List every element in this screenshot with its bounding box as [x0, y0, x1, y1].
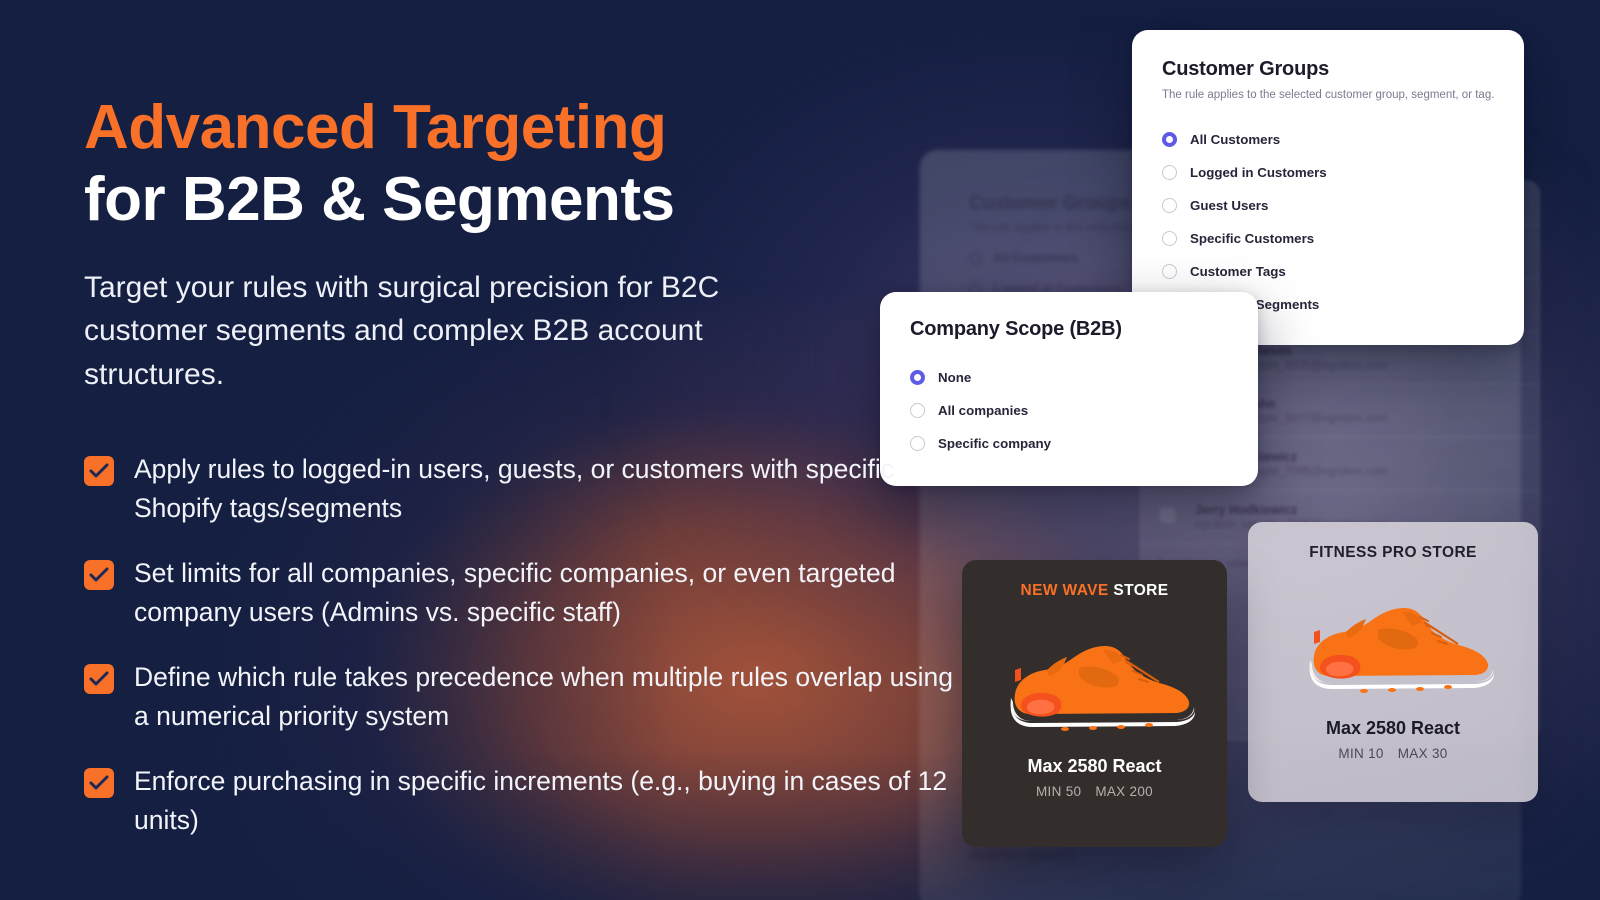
radio-selected-icon[interactable] — [1162, 132, 1177, 147]
radio-option-all-customers[interactable]: All Customers — [1162, 123, 1498, 156]
radio-option-customer-tags[interactable]: Customer Tags — [1162, 255, 1498, 288]
list-item: Enforce purchasing in specific increment… — [84, 762, 964, 840]
radio-icon[interactable] — [1162, 231, 1177, 246]
radio-option-logged-in-customers[interactable]: Logged in Customers — [1162, 156, 1498, 189]
store-name: NEW WAVE STORE — [980, 582, 1209, 600]
card-description: The rule applies to the selected custome… — [1162, 89, 1498, 101]
product-card-new-wave[interactable]: NEW WAVE STORE Max 2580 Re — [962, 560, 1227, 847]
checkbox-checked-icon — [84, 664, 114, 694]
max-quantity: MAX 200 — [1095, 784, 1153, 799]
radio-icon[interactable] — [1162, 198, 1177, 213]
list-item: Set limits for all companies, specific c… — [84, 554, 964, 632]
hero-subtitle: Target your rules with surgical precisio… — [84, 266, 824, 397]
option-label: All Customers — [1190, 132, 1280, 147]
feature-text: Define which rule takes precedence when … — [134, 658, 964, 736]
hero-copy: Advanced Targeting for B2B & Segments Ta… — [84, 92, 964, 840]
store-name: FITNESS PRO STORE — [1266, 544, 1520, 562]
card-title: Customer Groups — [1162, 58, 1498, 81]
min-quantity: MIN 50 — [1036, 784, 1081, 799]
option-label: Specific Customers — [1190, 231, 1314, 246]
ghost-option-label: Minimum Quantity — [969, 848, 1078, 862]
store-brand: NEW WAVE — [1020, 582, 1108, 599]
product-name: Max 2580 React — [1266, 718, 1520, 739]
feature-text: Set limits for all companies, specific c… — [134, 554, 964, 632]
feature-list: Apply rules to logged-in users, guests, … — [84, 450, 964, 840]
radio-icon[interactable] — [1162, 165, 1177, 180]
checkbox-icon[interactable] — [1159, 507, 1176, 524]
checkbox-checked-icon — [84, 768, 114, 798]
radio-option-guest-users[interactable]: Guest Users — [1162, 189, 1498, 222]
product-image — [980, 606, 1209, 756]
checkbox-checked-icon — [84, 456, 114, 486]
list-item: Apply rules to logged-in users, guests, … — [84, 450, 964, 528]
store-word: STORE — [1113, 582, 1168, 599]
product-card-fitness-pro[interactable]: FITNESS PRO STORE Max 2580 React — [1248, 522, 1538, 802]
page-title: Advanced Targeting for B2B & Segments — [84, 92, 964, 236]
option-label: Logged in Customers — [1190, 165, 1327, 180]
ghost-option-label: All Customers — [993, 251, 1078, 265]
radio-icon[interactable] — [1162, 264, 1177, 279]
list-item: Define which rule takes precedence when … — [84, 658, 964, 736]
feature-text: Enforce purchasing in specific increment… — [134, 762, 964, 840]
customer-name: Jerry Hodkiewicz — [1195, 503, 1523, 517]
product-limits: MIN 10MAX 30 — [1266, 746, 1520, 761]
max-quantity: MAX 30 — [1398, 746, 1448, 761]
radio-option-specific-customers[interactable]: Specific Customers — [1162, 222, 1498, 255]
checkbox-checked-icon — [84, 560, 114, 590]
sneaker-icon — [987, 624, 1202, 739]
title-line-accent: Advanced Targeting — [84, 92, 964, 164]
radio-icon — [969, 252, 982, 265]
ui-composition: Customer Groups The rule applies to the … — [900, 0, 1600, 900]
sneaker-icon — [1286, 586, 1501, 701]
product-name: Max 2580 React — [980, 756, 1209, 777]
ghost-extra-label: Minimum Quantity — [969, 848, 1485, 862]
min-quantity: MIN 10 — [1338, 746, 1383, 761]
option-label: Guest Users — [1190, 198, 1268, 213]
title-line-white: for B2B & Segments — [84, 164, 964, 236]
feature-text: Apply rules to logged-in users, guests, … — [134, 450, 964, 528]
product-image — [1266, 568, 1520, 718]
product-limits: MIN 50MAX 200 — [980, 784, 1209, 799]
option-label: Customer Tags — [1190, 264, 1286, 279]
